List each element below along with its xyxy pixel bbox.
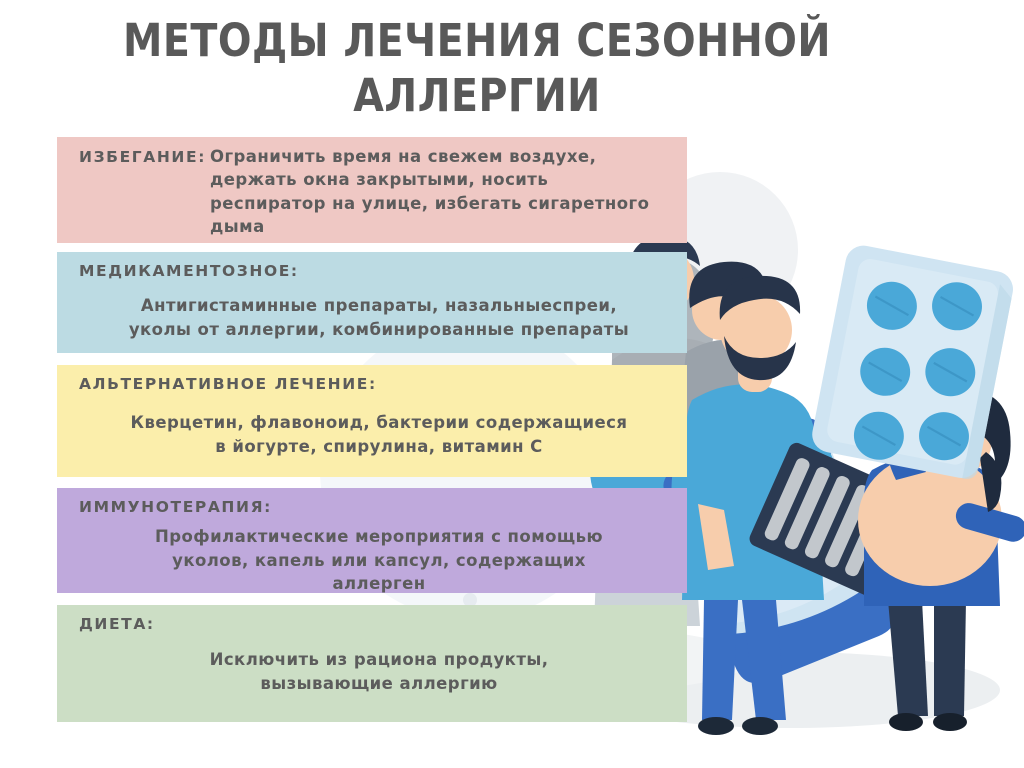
pill-strip-icon bbox=[747, 440, 962, 618]
pill-blister-pack-icon bbox=[809, 243, 1016, 482]
treatment-block-immunotherapy-body: Профилактические мероприятия с помощью у… bbox=[79, 525, 679, 595]
treatment-block-medication-label: МЕДИКАМЕНТОЗНОЕ: bbox=[79, 262, 679, 281]
medicine-bottle-icon bbox=[659, 413, 903, 690]
page-title: МЕТОДЫ ЛЕЧЕНИЯ СЕЗОННОЙ АЛЛЕРГИИ bbox=[112, 14, 842, 124]
treatment-block-medication-body: Антигистаминные препараты, назальныеспре… bbox=[79, 294, 679, 341]
person-bearded-icon bbox=[671, 276, 856, 735]
person-woman-icon bbox=[858, 362, 1024, 731]
person-woman-background-icon bbox=[674, 262, 774, 464]
treatment-block-diet: ДИЕТА: Исключить из рациона продукты, вы… bbox=[57, 605, 687, 722]
treatment-block-immunotherapy-label: ИММУНОТЕРАПИЯ: bbox=[79, 498, 679, 517]
treatment-block-alternative-body: Кверцетин, флавоноид, бактерии содержащи… bbox=[79, 411, 679, 458]
treatment-block-avoidance-label: ИЗБЕГАНИЕ: bbox=[79, 145, 210, 167]
treatment-block-alternative-label: АЛЬТЕРНАТИВНОЕ ЛЕЧЕНИЕ: bbox=[79, 375, 679, 394]
treatment-block-avoidance-body: Ограничить время на свежем воздухе, держ… bbox=[210, 145, 679, 239]
treatment-block-avoidance: ИЗБЕГАНИЕ: Ограничить время на свежем во… bbox=[57, 137, 687, 243]
pill-group bbox=[838, 266, 998, 477]
treatment-block-immunotherapy: ИММУНОТЕРАПИЯ: Профилактические мероприя… bbox=[57, 488, 687, 593]
treatment-block-diet-body: Исключить из рациона продукты, вызывающи… bbox=[79, 648, 679, 695]
treatment-block-alternative: АЛЬТЕРНАТИВНОЕ ЛЕЧЕНИЕ: Кверцетин, флаво… bbox=[57, 365, 687, 477]
infographic-poster: МЕТОДЫ ЛЕЧЕНИЯ СЕЗОННОЙ АЛЛЕРГИИ ИЗБЕГАН… bbox=[0, 0, 1024, 768]
treatment-block-medication: МЕДИКАМЕНТОЗНОЕ: Антигистаминные препара… bbox=[57, 252, 687, 353]
treatment-block-diet-label: ДИЕТА: bbox=[79, 615, 679, 634]
